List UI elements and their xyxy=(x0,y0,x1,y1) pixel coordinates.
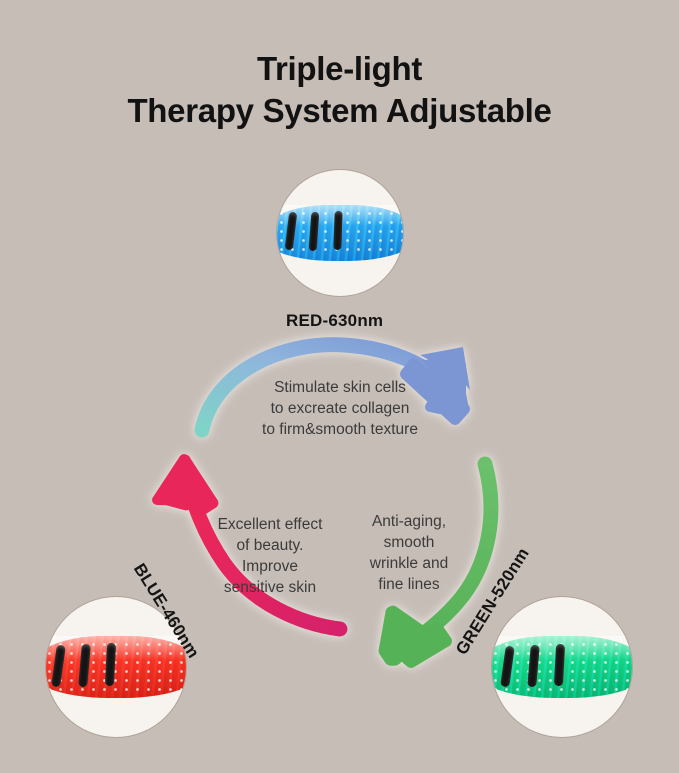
title-line-2: Therapy System Adjustable xyxy=(0,90,679,132)
green-led-device-photo xyxy=(492,597,632,737)
description-red: Stimulate skin cells to excreate collage… xyxy=(247,377,433,440)
device-band xyxy=(277,205,403,260)
infographic-canvas: Triple-light Therapy System Adjustable xyxy=(0,0,679,773)
device-electrode-3 xyxy=(104,643,115,687)
device-gloss xyxy=(46,636,186,659)
device-electrode-3 xyxy=(333,211,342,250)
page-title: Triple-light Therapy System Adjustable xyxy=(0,48,679,132)
device-band xyxy=(492,636,632,698)
title-line-1: Triple-light xyxy=(257,50,422,87)
wavelength-label-red: RED-630nm xyxy=(286,311,383,331)
blue-led-device-photo xyxy=(277,170,403,296)
device-band xyxy=(46,636,186,698)
description-green: Anti-aging, smooth wrinkle and fine line… xyxy=(352,511,466,595)
description-blue: Excellent effect of beauty. Improve sens… xyxy=(203,514,337,598)
